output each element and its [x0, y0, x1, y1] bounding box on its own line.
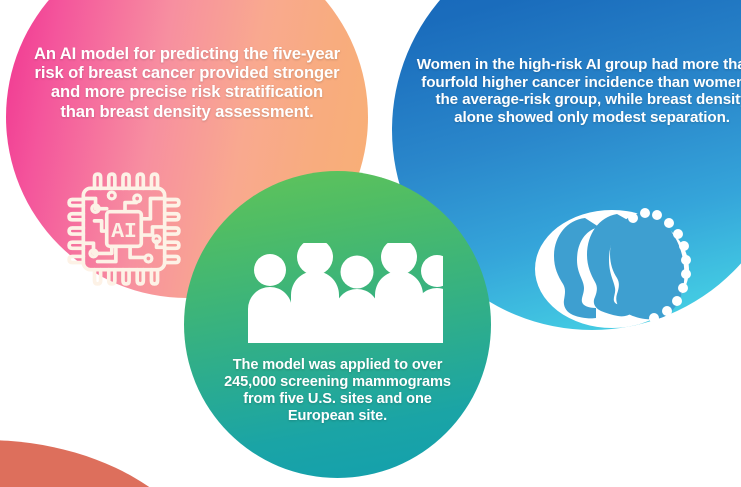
ai-chip-icon: AI [63, 168, 185, 290]
person-head [297, 243, 333, 275]
green-bubble-text: The model was applied to over 245,000 sc… [184, 357, 491, 425]
person-body [291, 271, 339, 343]
person-head [381, 243, 417, 275]
person-head [254, 254, 286, 286]
group-of-people-icon-svg [243, 243, 443, 343]
blue-bubble-text: Women in the high-risk AI group had more… [392, 56, 741, 127]
ai-chip-icon-svg: AI [63, 168, 185, 290]
coral-corner-blob [0, 440, 220, 487]
person-body [335, 289, 379, 343]
pink-bubble-text: An AI model for predicting the five-year… [6, 44, 368, 121]
person-head [341, 256, 374, 289]
person-body [248, 287, 292, 343]
group-of-people-icon [243, 243, 443, 343]
ai-chip-label: AI [111, 220, 137, 244]
person-head [421, 255, 443, 287]
infographic-canvas: Women in the high-risk AI group had more… [0, 0, 741, 487]
women-icon-silhouettes [554, 212, 684, 319]
three-women-profiles-icon-svg [533, 208, 691, 330]
three-women-profiles-icon [533, 208, 691, 330]
